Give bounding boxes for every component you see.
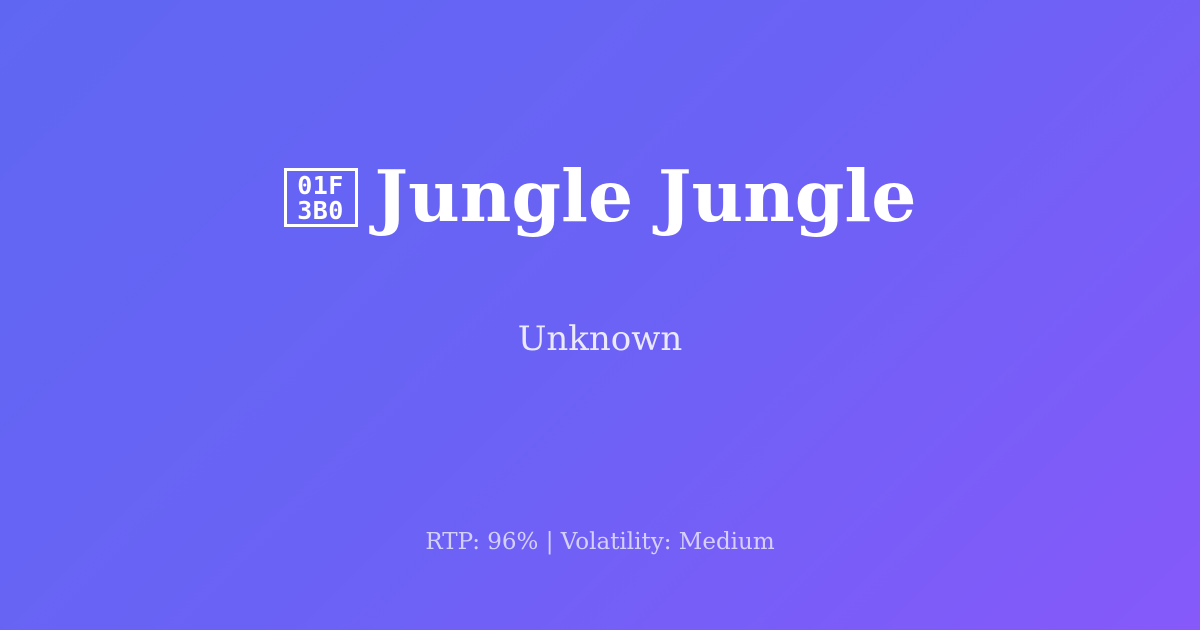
provider-subtitle: Unknown bbox=[518, 319, 683, 360]
slot-machine-icon: 01F 3B0 bbox=[284, 168, 358, 227]
game-stats-line: RTP: 96% | Volatility: Medium bbox=[0, 529, 1200, 557]
title-row: 01F 3B0 Jungle Jungle bbox=[284, 112, 917, 282]
hero-block: 01F 3B0 Jungle Jungle Unknown bbox=[0, 0, 1200, 472]
tofu-codepoint-bottom: 3B0 bbox=[297, 198, 344, 223]
tofu-codepoint-top: 01F bbox=[297, 173, 344, 198]
og-share-card: 01F 3B0 Jungle Jungle Unknown RTP: 96% |… bbox=[0, 0, 1200, 630]
page-title: Jungle Jungle bbox=[375, 159, 917, 234]
